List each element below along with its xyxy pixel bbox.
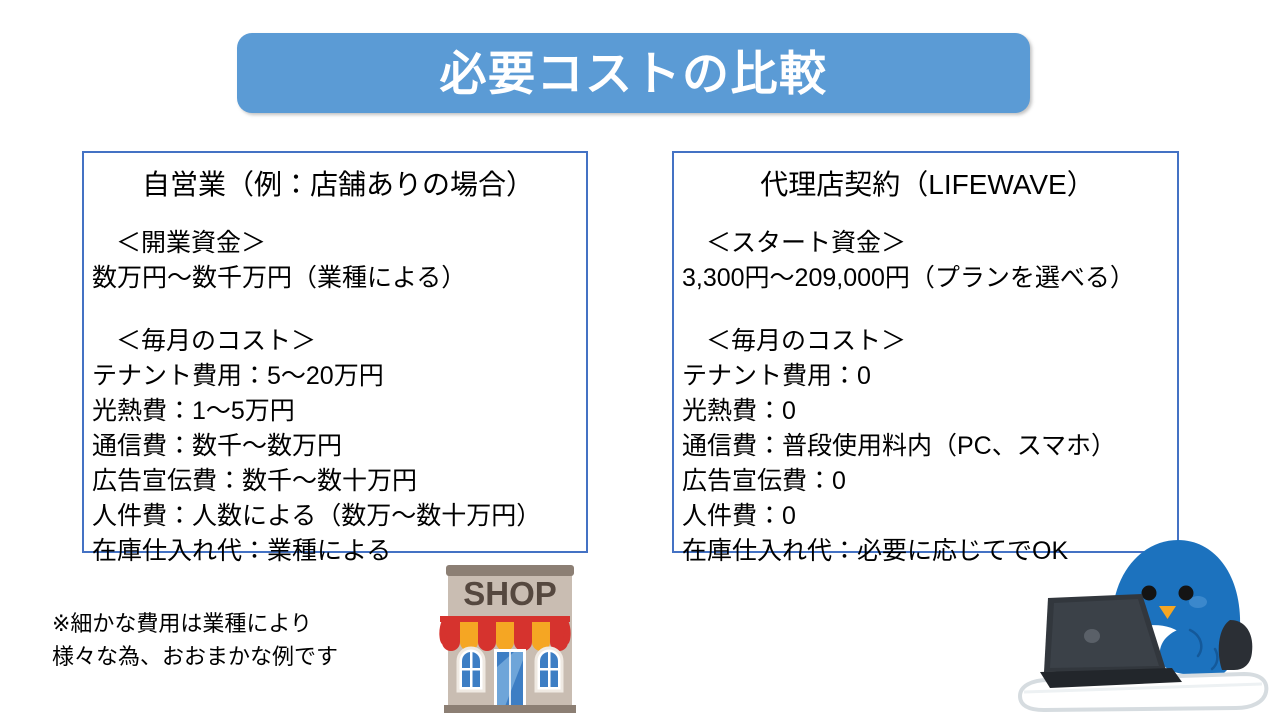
shop-door [494,649,526,709]
monthly-cost-line-advertising-left: 広告宣伝費：数千〜数十万円 [84,464,586,499]
startup-cost-line-left: 数万円〜数千万円（業種による） [84,261,586,296]
monthly-cost-line-tenant-left: テナント費用：5〜20万円 [84,359,586,394]
monthly-cost-section-right: ＜毎月のコスト＞ テナント費用：0 光熱費：0 通信費：普段使用料内（PC、スマ… [674,324,1177,569]
page-title: 必要コストの比較 [440,50,828,97]
shop-sign-text: SHOP [463,575,557,612]
shop-illustration: SHOP [434,557,586,717]
startup-cost-title-left: ＜開業資金＞ [84,226,586,261]
startup-cost-section-left: ＜開業資金＞ 数万円〜数千万円（業種による） [84,226,586,296]
monthly-cost-section-left: ＜毎月のコスト＞ テナント費用：5〜20万円 光熱費：1〜5万円 通信費：数千〜… [84,324,586,569]
monthly-cost-line-utilities-right: 光熱費：0 [674,394,1177,429]
shop-window-right [536,648,562,691]
monthly-cost-line-tenant-right: テナント費用：0 [674,359,1177,394]
monthly-cost-title-right: ＜毎月のコスト＞ [674,324,1177,359]
comparison-panel-self-employment: 自営業（例：店舗ありの場合） ＜開業資金＞ 数万円〜数千万円（業種による） ＜毎… [82,151,588,553]
bird-eye-right [1179,586,1194,601]
monthly-cost-line-labor-right: 人件費：0 [674,499,1177,534]
footnote: ※細かな費用は業種により 様々な為、おおまかな例です [52,607,338,673]
startup-cost-title-right: ＜スタート資金＞ [674,226,1177,261]
startup-cost-section-right: ＜スタート資金＞ 3,300円〜209,000円（プランを選べる） [674,226,1177,296]
laptop-logo [1084,629,1100,643]
panel-heading-self-employment: 自営業（例：店舗ありの場合） [84,167,586,202]
shop-awning [439,616,570,651]
monthly-cost-line-utilities-left: 光熱費：1〜5万円 [84,394,586,429]
monthly-cost-line-labor-left: 人件費：人数による（数万〜数十万円） [84,499,586,534]
bird-eye-left [1142,586,1157,601]
shop-window-left [458,648,484,691]
comparison-panel-agency-contract: 代理店契約（LIFEWAVE） ＜スタート資金＞ 3,300円〜209,000円… [672,151,1179,553]
footnote-line-1: ※細かな費用は業種により [52,607,338,640]
slide-title-banner: 必要コストの比較 [237,33,1030,113]
footnote-line-2: 様々な為、おおまかな例です [52,640,338,673]
monthly-cost-line-communication-right: 通信費：普段使用料内（PC、スマホ） [674,429,1177,464]
startup-cost-line-right: 3,300円〜209,000円（プランを選べる） [674,261,1177,296]
monthly-cost-line-advertising-right: 広告宣伝費：0 [674,464,1177,499]
monthly-cost-line-communication-left: 通信費：数千〜数万円 [84,429,586,464]
bird-with-laptop-illustration [1006,536,1278,720]
monthly-cost-title-left: ＜毎月のコスト＞ [84,324,586,359]
panel-heading-agency-contract: 代理店契約（LIFEWAVE） [674,167,1177,202]
